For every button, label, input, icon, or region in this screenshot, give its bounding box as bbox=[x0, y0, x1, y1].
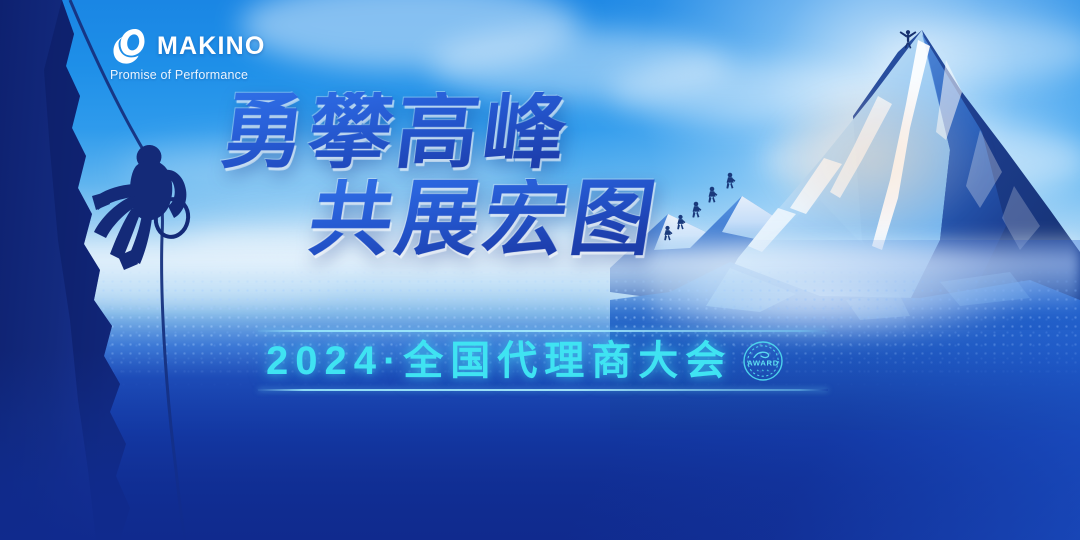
headline-line-2: 共展宏图 bbox=[304, 179, 665, 260]
ridge-climber-figure bbox=[724, 172, 736, 189]
subtitle-row: 2024·全国代理商大会 AWARD ★ ★ ★ bbox=[258, 332, 828, 389]
ridge-climber-figure bbox=[675, 214, 686, 230]
headline-line-1: 勇攀高峰 bbox=[217, 92, 663, 173]
award-badge-icon: AWARD ★ ★ ★ bbox=[740, 338, 786, 384]
conference-keyvisual-banner: MAKINO Promise of Performance 勇攀高峰 共展宏图 … bbox=[0, 0, 1080, 540]
svg-text:★ ★ ★: ★ ★ ★ bbox=[757, 369, 771, 373]
headline: 勇攀高峰 共展宏图 bbox=[222, 92, 658, 259]
ridge-climber-figure bbox=[706, 186, 718, 203]
svg-text:AWARD: AWARD bbox=[747, 358, 779, 367]
ridge-climber-figure bbox=[690, 201, 702, 218]
subtitle-text: 2024·全国代理商大会 bbox=[266, 340, 732, 382]
ridge-climber-figure bbox=[662, 225, 673, 241]
subtitle-block: 2024·全国代理商大会 AWARD ★ ★ ★ bbox=[258, 330, 828, 391]
logo-row: MAKINO bbox=[108, 26, 266, 66]
makino-ring-icon bbox=[108, 26, 148, 66]
brand-name: MAKINO bbox=[157, 34, 266, 59]
makino-logo: MAKINO Promise of Performance bbox=[108, 26, 266, 82]
summit-victory-figure bbox=[897, 27, 919, 49]
rule-bottom bbox=[258, 389, 828, 391]
brand-tagline: Promise of Performance bbox=[110, 68, 266, 82]
